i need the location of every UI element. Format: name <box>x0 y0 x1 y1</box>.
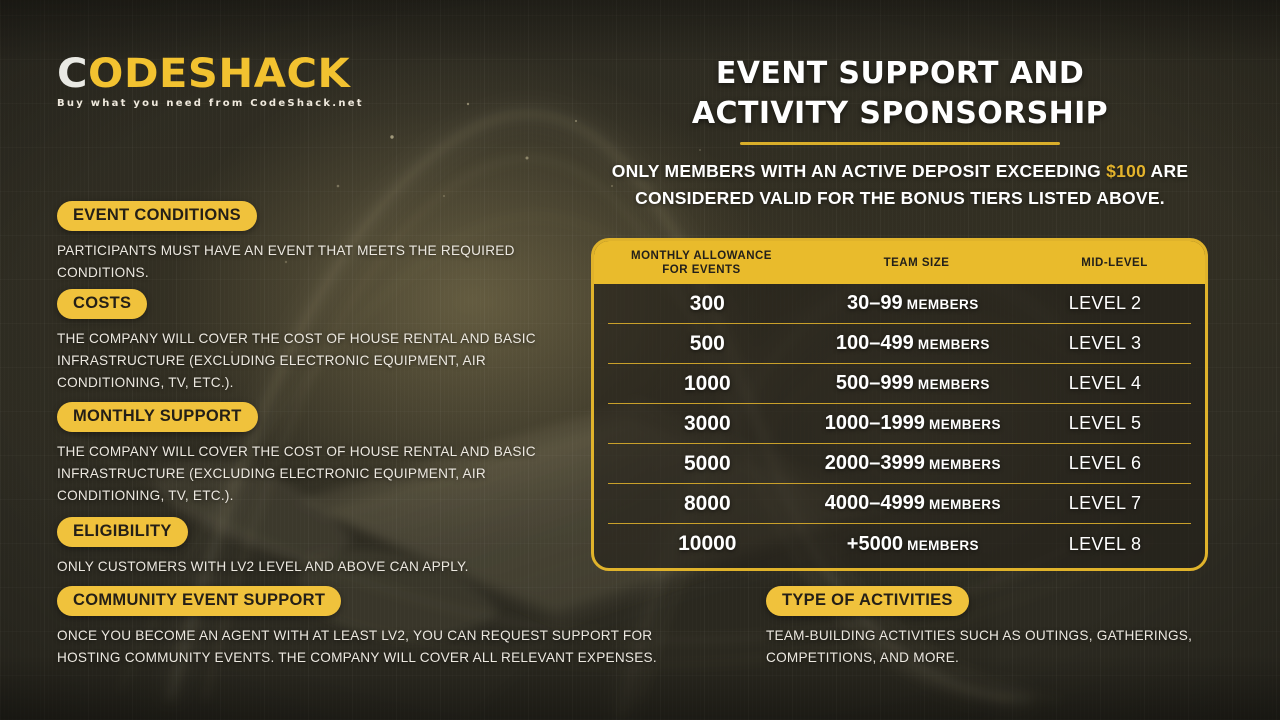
column-header-allowance-line1: MONTHLY ALLOWANCE <box>594 249 809 263</box>
cell-team-size: 500–999 MEMBERS <box>807 372 1019 395</box>
cell-team-size-unit: MEMBERS <box>914 337 990 352</box>
logo-wordmark: CODESHACK <box>57 52 376 96</box>
brand-logo[interactable]: CODESHACK Buy what you need from CodeSha… <box>57 52 364 109</box>
cell-team-size-range: 30–99 <box>847 292 903 314</box>
cell-team-size-unit: MEMBERS <box>903 297 979 312</box>
page-title-line2: ACTIVITY SPONSORSHIP <box>600 94 1200 134</box>
section-body-event-conditions: PARTICIPANTS MUST HAVE AN EVENT THAT MEE… <box>57 240 557 284</box>
cell-mid-level: LEVEL 2 <box>1019 293 1191 314</box>
section-event-conditions: EVENT CONDITIONS PARTICIPANTS MUST HAVE … <box>57 201 557 284</box>
table-row: 50002000–3999 MEMBERSLEVEL 6 <box>608 444 1191 484</box>
page-title-line1: EVENT SUPPORT AND <box>600 54 1200 94</box>
cell-mid-level: LEVEL 7 <box>1019 493 1191 514</box>
cell-team-size-range: 2000–3999 <box>825 452 925 474</box>
cell-team-size-unit: MEMBERS <box>925 457 1001 472</box>
cell-mid-level: LEVEL 3 <box>1019 333 1191 354</box>
section-label-costs: COSTS <box>57 289 147 319</box>
section-label-event-conditions: EVENT CONDITIONS <box>57 201 257 231</box>
cell-mid-level: LEVEL 5 <box>1019 413 1191 434</box>
section-label-type-of-activities: TYPE OF ACTIVITIES <box>766 586 969 616</box>
subtitle-amount: $100 <box>1106 161 1146 181</box>
section-type-of-activities: TYPE OF ACTIVITIES TEAM-BUILDING ACTIVIT… <box>766 586 1236 669</box>
cell-mid-level: LEVEL 8 <box>1019 534 1191 555</box>
bonus-tier-table: MONTHLY ALLOWANCE FOR EVENTS TEAM SIZE M… <box>591 238 1208 571</box>
section-label-community-event-support: COMMUNITY EVENT SUPPORT <box>57 586 341 616</box>
logo-wordmark-rest: ODESHACK <box>88 51 350 97</box>
logo-tagline: Buy what you need from CodeShack.net <box>57 98 364 109</box>
table-body: 30030–99 MEMBERSLEVEL 2500100–499 MEMBER… <box>594 284 1205 568</box>
cell-team-size: 1000–1999 MEMBERS <box>807 412 1019 435</box>
cell-team-size-unit: MEMBERS <box>925 417 1001 432</box>
section-eligibility: ELIGIBILITY ONLY CUSTOMERS WITH LV2 LEVE… <box>57 517 557 578</box>
column-header-mid-level: MID-LEVEL <box>1024 249 1205 277</box>
cell-team-size-unit: MEMBERS <box>914 377 990 392</box>
subtitle-text-part1: ONLY MEMBERS WITH AN ACTIVE DEPOSIT EXCE… <box>612 161 1106 181</box>
section-body-community-event-support: ONCE YOU BECOME AN AGENT WITH AT LEAST L… <box>57 625 707 669</box>
table-row: 1000500–999 MEMBERSLEVEL 4 <box>608 364 1191 404</box>
section-body-monthly-support: THE COMPANY WILL COVER THE COST OF HOUSE… <box>57 441 547 507</box>
cell-monthly-allowance: 500 <box>608 332 807 356</box>
promo-banner: CODESHACK Buy what you need from CodeSha… <box>0 0 1280 720</box>
cell-monthly-allowance: 1000 <box>608 372 807 396</box>
table-row: 30001000–1999 MEMBERSLEVEL 5 <box>608 404 1191 444</box>
table-row: 10000+5000 MEMBERSLEVEL 8 <box>608 524 1191 564</box>
section-costs: COSTS THE COMPANY WILL COVER THE COST OF… <box>57 289 547 394</box>
header-block: EVENT SUPPORT AND ACTIVITY SPONSORSHIP O… <box>600 54 1200 212</box>
logo-letter-c: C <box>57 51 88 97</box>
cell-team-size-unit: MEMBERS <box>925 497 1001 512</box>
cell-team-size-unit: MEMBERS <box>903 538 979 553</box>
cell-team-size: 4000–4999 MEMBERS <box>807 492 1019 515</box>
section-label-eligibility: ELIGIBILITY <box>57 517 188 547</box>
title-underline-rule <box>740 142 1060 145</box>
cell-monthly-allowance: 5000 <box>608 452 807 476</box>
section-body-type-of-activities: TEAM-BUILDING ACTIVITIES SUCH AS OUTINGS… <box>766 625 1236 669</box>
section-monthly-support: MONTHLY SUPPORT THE COMPANY WILL COVER T… <box>57 402 547 507</box>
cell-monthly-allowance: 300 <box>608 292 807 316</box>
cell-team-size: 100–499 MEMBERS <box>807 332 1019 355</box>
cell-team-size-range: 1000–1999 <box>825 412 925 434</box>
section-community-event-support: COMMUNITY EVENT SUPPORT ONCE YOU BECOME … <box>57 586 707 669</box>
table-header-row: MONTHLY ALLOWANCE FOR EVENTS TEAM SIZE M… <box>594 241 1205 284</box>
cell-team-size-range: 100–499 <box>836 332 914 354</box>
table-row: 500100–499 MEMBERSLEVEL 3 <box>608 324 1191 364</box>
table-row: 30030–99 MEMBERSLEVEL 2 <box>608 284 1191 324</box>
cell-mid-level: LEVEL 6 <box>1019 453 1191 474</box>
cell-monthly-allowance: 3000 <box>608 412 807 436</box>
cell-monthly-allowance: 8000 <box>608 492 807 516</box>
column-header-allowance: MONTHLY ALLOWANCE FOR EVENTS <box>594 249 809 277</box>
cell-team-size-range: 4000–4999 <box>825 492 925 514</box>
table-row: 80004000–4999 MEMBERSLEVEL 7 <box>608 484 1191 524</box>
cell-team-size-range: 500–999 <box>836 372 914 394</box>
cell-team-size-range: +5000 <box>847 533 903 555</box>
header-subtitle: ONLY MEMBERS WITH AN ACTIVE DEPOSIT EXCE… <box>600 158 1200 212</box>
column-header-team-size: TEAM SIZE <box>809 249 1024 277</box>
cell-mid-level: LEVEL 4 <box>1019 373 1191 394</box>
cell-team-size: 2000–3999 MEMBERS <box>807 452 1019 475</box>
section-body-costs: THE COMPANY WILL COVER THE COST OF HOUSE… <box>57 328 547 394</box>
cell-team-size: 30–99 MEMBERS <box>807 292 1019 315</box>
section-body-eligibility: ONLY CUSTOMERS WITH LV2 LEVEL AND ABOVE … <box>57 556 557 578</box>
column-header-allowance-line2: FOR EVENTS <box>594 263 809 277</box>
cell-monthly-allowance: 10000 <box>608 532 807 556</box>
section-label-monthly-support: MONTHLY SUPPORT <box>57 402 258 432</box>
cell-team-size: +5000 MEMBERS <box>807 533 1019 556</box>
